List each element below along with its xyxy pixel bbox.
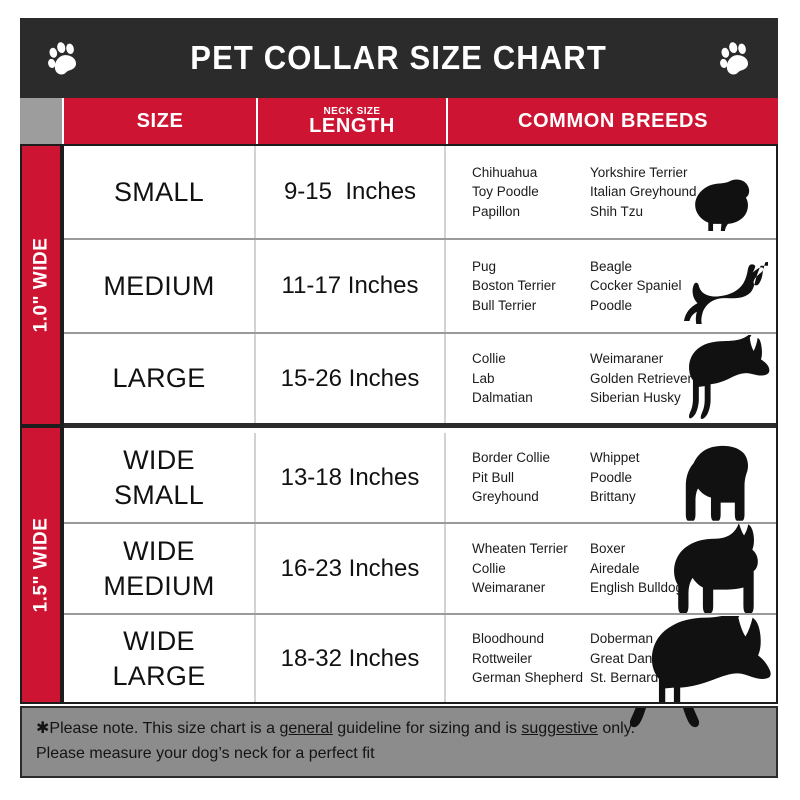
row-length-label: 18-32 Inches	[281, 645, 420, 673]
row-breeds-cell: Pug Boston Terrier Bull Terrier Beagle C…	[446, 240, 776, 332]
breeds-column-1: Pug Boston Terrier Bull Terrier	[472, 257, 590, 316]
breeds-column-2: Doberman Great Dane St. Bernard	[590, 629, 720, 688]
row-length-label: 9-15 Inches	[284, 178, 416, 206]
row-length-cell: 15-26 Inches	[256, 334, 446, 423]
row-size-label: WIDE MEDIUM	[103, 534, 214, 603]
row-breeds-cell: Collie Lab Dalmatian Weimaraner Golden R…	[446, 334, 776, 423]
row-length-cell: 9-15 Inches	[256, 146, 446, 238]
row-size-cell: WIDE SMALL	[64, 433, 256, 522]
table-row: WIDE SMALL 13-18 Inches Border Collie Pi…	[64, 433, 776, 524]
row-size-label: SMALL	[114, 175, 204, 210]
row-length-cell: 13-18 Inches	[256, 433, 446, 522]
row-breeds-cell: Chihuahua Toy Poodle Papillon Yorkshire …	[446, 146, 776, 238]
row-breeds-cell: Bloodhound Rottweiler German Shepherd Do…	[446, 615, 776, 702]
row-size-label: WIDE SMALL	[114, 443, 204, 512]
table-grid: SMALL 9-15 Inches Chihuahua Toy Poodle P…	[62, 144, 778, 704]
footer-line1-mid: guideline for sizing and is	[333, 720, 522, 737]
table-header-row: SIZE NECK SIZE LENGTH COMMON BREEDS	[20, 98, 778, 144]
footer-line-2: Please measure your dog’s neck for a per…	[36, 742, 776, 767]
section-label-1-0-wide: 1.0" WIDE	[20, 144, 62, 426]
column-header-length-main: LENGTH	[309, 116, 395, 136]
footer-line-1: ✱Please note. This size chart is a gener…	[36, 717, 776, 742]
footer-underline-suggestive: suggestive	[521, 720, 598, 737]
breeds-column-1: Collie Lab Dalmatian	[472, 349, 590, 408]
table-row: WIDE LARGE 18-32 Inches Bloodhound Rottw…	[64, 615, 776, 702]
breeds-column-2: Weimaraner Golden Retriever Siberian Hus…	[590, 349, 720, 408]
breeds-column-1: Chihuahua Toy Poodle Papillon	[472, 163, 590, 222]
paw-print-icon	[42, 37, 84, 79]
breeds-column-2: Whippet Poodle Brittany	[590, 448, 720, 507]
row-length-label: 13-18 Inches	[281, 464, 420, 492]
paw-print-icon	[714, 37, 756, 79]
row-size-label: WIDE LARGE	[112, 624, 205, 693]
column-header-neck-length: NECK SIZE LENGTH	[258, 98, 446, 144]
pet-collar-size-chart: PET COLLAR SIZE CHART SIZE NECK SIZE LEN…	[20, 18, 778, 778]
footer-underline-general: general	[279, 720, 332, 737]
breeds-column-2: Boxer Airedale English Bulldog	[590, 539, 720, 598]
row-size-cell: MEDIUM	[64, 240, 256, 332]
table-row: WIDE MEDIUM 16-23 Inches Wheaten Terrier…	[64, 524, 776, 615]
table-body: 1.0" WIDE 1.5" WIDE SMALL 9-15 Inches Ch…	[20, 144, 778, 704]
row-size-cell: SMALL	[64, 146, 256, 238]
chart-title-bar: PET COLLAR SIZE CHART	[20, 18, 778, 98]
row-length-label: 16-23 Inches	[281, 555, 420, 583]
row-size-cell: WIDE LARGE	[64, 615, 256, 702]
breeds-column-1: Border Collie Pit Bull Greyhound	[472, 448, 590, 507]
table-row: LARGE 15-26 Inches Collie Lab Dalmatian …	[64, 334, 776, 428]
table-row: SMALL 9-15 Inches Chihuahua Toy Poodle P…	[64, 146, 776, 240]
column-header-size: SIZE	[64, 98, 256, 144]
row-length-label: 15-26 Inches	[281, 365, 420, 393]
section-label-1-5-wide: 1.5" WIDE	[20, 426, 62, 704]
row-length-cell: 18-32 Inches	[256, 615, 446, 702]
breeds-column-1: Bloodhound Rottweiler German Shepherd	[472, 629, 590, 688]
row-length-cell: 16-23 Inches	[256, 524, 446, 613]
footer-note: ✱Please note. This size chart is a gener…	[20, 706, 778, 778]
breeds-column-1: Wheaten Terrier Collie Weimaraner	[472, 539, 590, 598]
row-breeds-cell: Wheaten Terrier Collie Weimaraner Boxer …	[446, 524, 776, 613]
row-size-label: LARGE	[112, 361, 205, 396]
page-title: PET COLLAR SIZE CHART	[191, 39, 608, 77]
breeds-column-2: Beagle Cocker Spaniel Poodle	[590, 257, 720, 316]
row-length-cell: 11-17 Inches	[256, 240, 446, 332]
column-header-common-breeds: COMMON BREEDS	[448, 98, 778, 144]
header-corner-cell	[20, 98, 62, 144]
footer-line1-post: only.	[598, 720, 635, 737]
row-size-cell: WIDE MEDIUM	[64, 524, 256, 613]
footer-line1-pre: ✱Please note. This size chart is a	[36, 720, 279, 737]
row-length-label: 11-17 Inches	[282, 272, 419, 300]
breeds-column-2: Yorkshire Terrier Italian Greyhound Shih…	[590, 163, 720, 222]
row-size-cell: LARGE	[64, 334, 256, 423]
table-row: MEDIUM 11-17 Inches Pug Boston Terrier B…	[64, 240, 776, 334]
row-breeds-cell: Border Collie Pit Bull Greyhound Whippet…	[446, 433, 776, 522]
row-size-label: MEDIUM	[103, 269, 214, 304]
